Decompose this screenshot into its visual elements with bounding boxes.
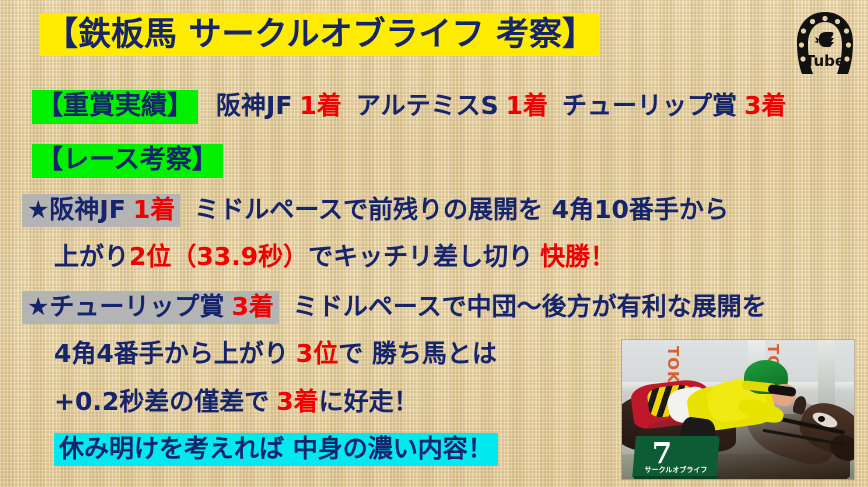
review-line-5-red: 3着 bbox=[276, 387, 318, 416]
review-line-3-highlight: ★チューリップ賞3着 bbox=[22, 291, 279, 324]
review-line-3-race: チューリップ賞 bbox=[49, 292, 224, 321]
review-line-2-red2: 快勝！ bbox=[540, 242, 615, 271]
saddle-cloth-edge bbox=[634, 476, 718, 479]
grade-record-row: 【重賞実績】阪神JF1着アルテミスS1着チューリップ賞3着 bbox=[32, 88, 786, 124]
page-title-text: 【鉄板馬 サークルオブライフ 考察】 bbox=[40, 13, 600, 56]
slide-canvas: 【鉄板馬 サークルオブライフ 考察】 【重賞実績】阪神JF1着アルテミスS1着チ… bbox=[0, 0, 868, 487]
review-heading: 【レース考察】 bbox=[32, 142, 223, 178]
photo-post-right bbox=[818, 340, 835, 410]
review-line-1: ★阪神JF1着ミドルペースで前残りの展開を 4角10番手から bbox=[22, 193, 729, 227]
review-line-5-b: に好走！ bbox=[319, 387, 419, 416]
review-line-5: +0.2秒差の僅差で3着に好走！ bbox=[54, 385, 419, 419]
review-line-2-red: 2位（33.9秒） bbox=[129, 242, 308, 271]
horseshoe-icon bbox=[788, 8, 862, 84]
grade-race-2-place: 1着 bbox=[506, 91, 548, 120]
review-line-3-place: 3着 bbox=[231, 292, 273, 321]
grade-record-body: 阪神JF1着アルテミスS1着チューリップ賞3着 bbox=[216, 91, 786, 120]
page-title: 【鉄板馬 サークルオブライフ 考察】 bbox=[40, 12, 600, 56]
review-line-4-a: 4角4番手から上がり bbox=[54, 339, 289, 368]
grade-race-3-name: チューリップ賞 bbox=[562, 91, 737, 120]
review-line-4: 4角4番手から上がり3位で 勝ち馬とは bbox=[54, 337, 497, 371]
review-heading-text: 【レース考察】 bbox=[32, 144, 223, 178]
review-line-1-race: 阪神JF bbox=[49, 195, 125, 224]
review-line-4-red: 3位 bbox=[296, 339, 338, 368]
star-icon: ★ bbox=[27, 195, 49, 224]
grade-race-1-place: 1着 bbox=[299, 91, 341, 120]
grade-record-label: 【重賞実績】 bbox=[32, 90, 198, 124]
saddle-cloth-number: 7 bbox=[642, 436, 682, 470]
logo-text: Tube bbox=[788, 52, 862, 70]
review-line-4-b: で 勝ち馬とは bbox=[338, 339, 497, 368]
review-line-1-highlight: ★阪神JF1着 bbox=[22, 194, 180, 227]
review-line-2: 上がり2位（33.9秒）でキッチリ差し切り快勝！ bbox=[54, 240, 615, 274]
race-photo: TOK TOK 7 サークルオブライフ bbox=[622, 340, 854, 479]
review-line-6-text: 休み明けを考えれば 中身の濃い内容！ bbox=[54, 433, 498, 466]
grade-race-2-name: アルテミスS bbox=[356, 91, 499, 120]
horse-eye bbox=[818, 416, 825, 422]
review-line-6: 休み明けを考えれば 中身の濃い内容！ bbox=[54, 432, 498, 466]
review-line-1-rest: ミドルペースで前残りの展開を 4角10番手から bbox=[194, 195, 729, 224]
grade-race-3-place: 3着 bbox=[744, 91, 786, 120]
review-line-1-place: 1着 bbox=[133, 195, 175, 224]
grade-race-1-name: 阪神JF bbox=[216, 91, 292, 120]
review-line-2-a: 上がり bbox=[54, 242, 129, 271]
review-line-5-a: +0.2秒差の僅差で bbox=[54, 387, 269, 416]
star-icon: ★ bbox=[27, 292, 49, 321]
photo-signage-left: TOK bbox=[664, 346, 682, 384]
channel-logo[interactable]: Tube bbox=[788, 8, 862, 84]
review-line-2-b: でキッチリ差し切り bbox=[308, 242, 533, 271]
review-line-3-rest: ミドルペースで中団〜後方が有利な展開を bbox=[293, 292, 767, 321]
review-line-3: ★チューリップ賞3着ミドルペースで中団〜後方が有利な展開を bbox=[22, 290, 767, 324]
saddle-cloth-horse-name: サークルオブライフ bbox=[636, 466, 716, 475]
